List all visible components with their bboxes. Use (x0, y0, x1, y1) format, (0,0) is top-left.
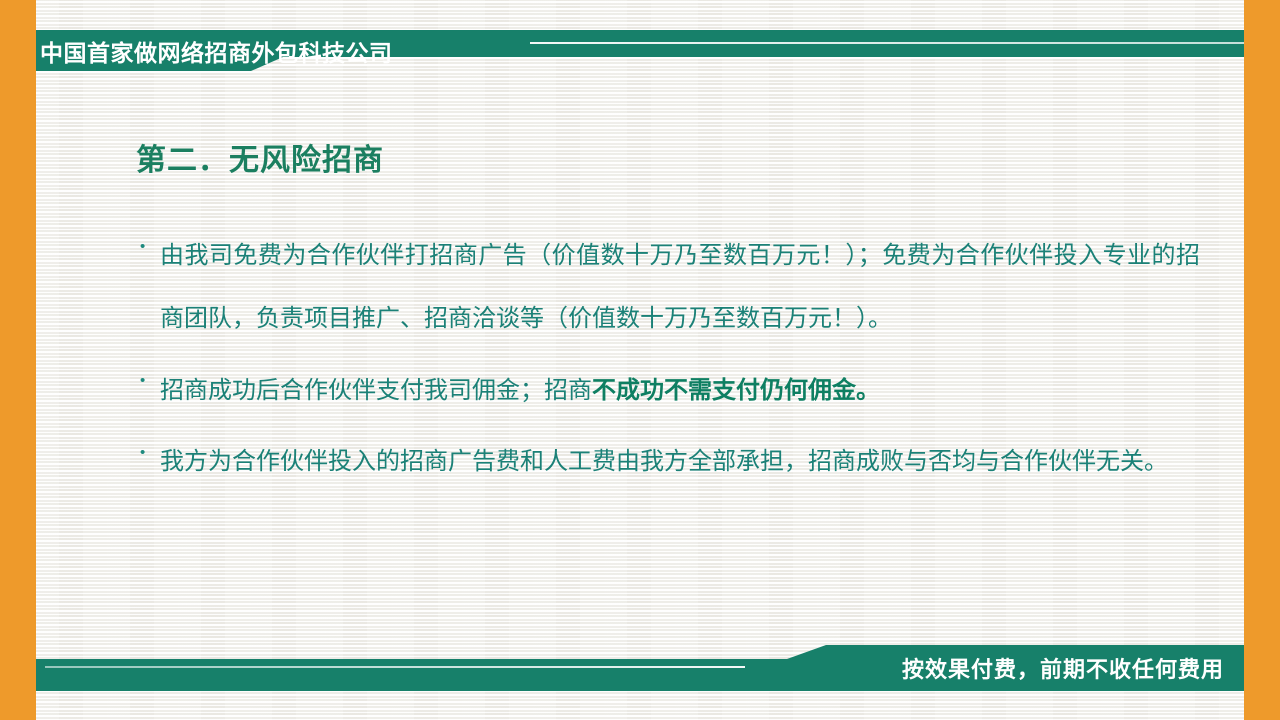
bullet-dot-icon: • (140, 225, 160, 254)
list-item: •由我司免费为合作伙伴打招商广告（价值数十万乃至数百万元！）；免费为合作伙伴投入… (140, 225, 1200, 351)
list-item-text: 我方为合作伙伴投入的招商广告费和人工费由我方全部承担，招商成败与否均与合作伙伴无… (160, 431, 1200, 494)
list-item: •我方为合作伙伴投入的招商广告费和人工费由我方全部承担，招商成败与否均与合作伙伴… (140, 431, 1200, 494)
list-item-text: 由我司免费为合作伙伴打招商广告（价值数十万乃至数百万元！）；免费为合作伙伴投入专… (160, 225, 1200, 351)
bullet-dot-icon: • (140, 431, 160, 460)
list-item: •招商成功后合作伙伴支付我司佣金；招商不成功不需支付仍何佣金。 (140, 359, 1200, 423)
plain-text: 招商成功后合作伙伴支付我司佣金；招商 (160, 378, 592, 404)
footer-tagline: 按效果付费，前期不收任何费用 (902, 645, 1224, 691)
section-title: 第二．无风险招商 (136, 135, 384, 179)
plain-text: 由我司免费为合作伙伴打招商广告（价值数十万乃至数百万元！）；免费为合作伙伴投入专… (160, 243, 1200, 332)
list-item-text: 招商成功后合作伙伴支付我司佣金；招商不成功不需支付仍何佣金。 (160, 359, 1200, 423)
company-tagline: 中国首家做网络招商外包科技公司 (40, 30, 393, 71)
header-divider-line (530, 42, 1244, 44)
emphasis-text: 不成功不需支付仍何佣金。 (592, 377, 880, 404)
bullet-dot-icon: • (140, 359, 160, 388)
slide-canvas: 中国首家做网络招商外包科技公司 第二．无风险招商 •由我司免费为合作伙伴打招商广… (0, 0, 1280, 720)
footer-divider-line (45, 666, 745, 668)
bullet-list: •由我司免费为合作伙伴打招商广告（价值数十万乃至数百万元！）；免费为合作伙伴投入… (140, 225, 1200, 502)
plain-text: 我方为合作伙伴投入的招商广告费和人工费由我方全部承担，招商成败与否均与合作伙伴无… (160, 449, 1168, 475)
